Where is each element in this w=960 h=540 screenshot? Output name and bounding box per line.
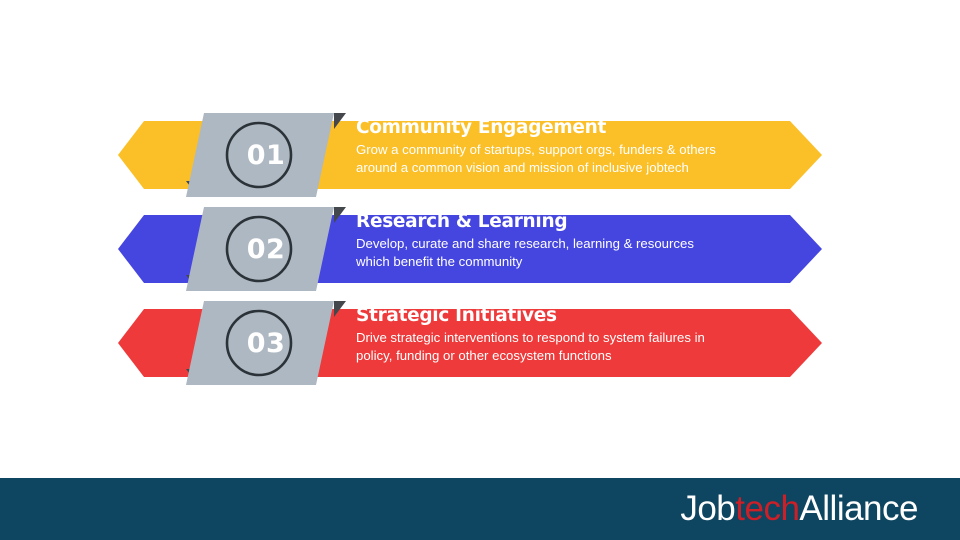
badge-parallelogram-3 <box>186 301 334 385</box>
pillar-badge-1: 01 <box>168 105 364 205</box>
badge-shape-2 <box>168 199 364 299</box>
jobtech-alliance-logo: JobtechAlliance <box>680 489 918 529</box>
badge-shape-3 <box>168 293 364 393</box>
badge-shadow-top-right-3 <box>334 301 346 317</box>
pillar-row-1[interactable]: 01 Community Engagement Grow a community… <box>0 110 960 200</box>
pillar-row-3[interactable]: 03 Strategic Initiatives Drive strategic… <box>0 298 960 388</box>
pillar-row-2[interactable]: 02 Research & Learning Develop, curate a… <box>0 204 960 294</box>
slide-canvas: 01 Community Engagement Grow a community… <box>0 0 960 540</box>
badge-shape-1 <box>168 105 364 205</box>
logo-text-tech: tech <box>735 489 799 528</box>
arrow-banner-shape-2 <box>0 204 960 294</box>
footer-bar: JobtechAlliance <box>0 478 960 540</box>
badge-parallelogram-1 <box>186 113 334 197</box>
badge-parallelogram-2 <box>186 207 334 291</box>
arrow-banner-shape-3 <box>0 298 960 388</box>
logo-text-alliance: Alliance <box>799 489 918 528</box>
arrow-banner-shape-1 <box>0 110 960 200</box>
pillar-badge-3: 03 <box>168 293 364 393</box>
logo-text-job: Job <box>680 489 735 528</box>
badge-shadow-top-right-2 <box>334 207 346 223</box>
pillar-badge-2: 02 <box>168 199 364 299</box>
badge-shadow-top-right-1 <box>334 113 346 129</box>
